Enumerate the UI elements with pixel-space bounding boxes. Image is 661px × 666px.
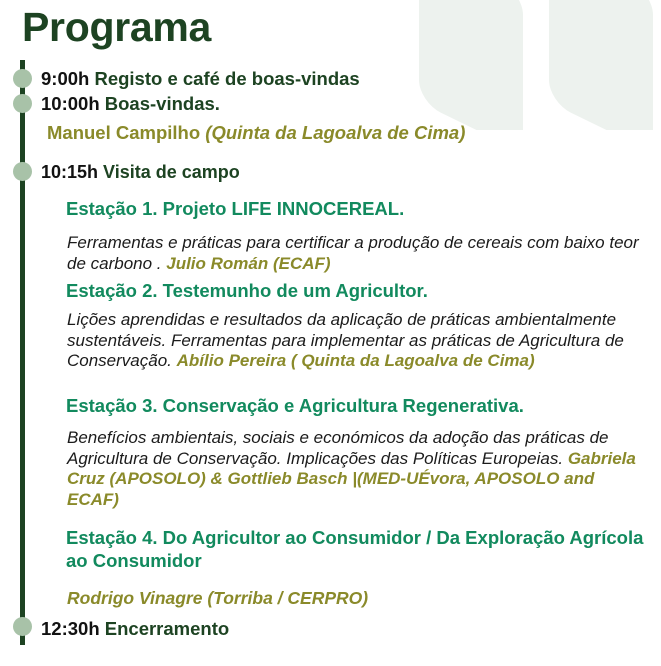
station-2-description: Lições aprendidas e resultados da aplica… [67, 310, 651, 372]
agenda-entry-closing: 12:30h Encerramento [41, 620, 229, 639]
station-3-heading: Estação 3. Conservação e Agricultura Reg… [66, 395, 646, 418]
station-2-presenter: Abílio Pereira ( Quinta da Lagoalva de C… [177, 351, 535, 370]
timeline-dot-marker [13, 69, 32, 88]
agenda-entry-label: Visita de campo [98, 162, 240, 182]
agenda-entry-label: Registo e café de boas-vindas [89, 68, 359, 89]
timeline-dot-marker [13, 617, 32, 636]
station-3-description-text: Benefícios ambientais, sociais e económi… [67, 428, 608, 468]
agenda-entry-time: 10:00h [41, 93, 100, 114]
station-1-heading: Estação 1. Projeto LIFE INNOCEREAL. [66, 198, 646, 221]
decorative-chevron-shape-left [419, 0, 523, 130]
agenda-entry-welcome: 10:00h Boas-vindas. [41, 95, 220, 114]
station-2-heading: Estação 2. Testemunho de um Agricultor. [66, 280, 646, 303]
agenda-entry-label: Encerramento [100, 618, 230, 639]
agenda-entry-time: 10:15h [41, 162, 98, 182]
page-title: Programa [22, 4, 211, 51]
station-1-presenter: Julio Román (ECAF) [166, 254, 330, 273]
station-3-description: Benefícios ambientais, sociais e económi… [67, 428, 651, 511]
timeline-rail [20, 60, 25, 645]
agenda-entry-field-visit: 10:15h Visita de campo [41, 163, 240, 181]
station-4-heading: Estação 4. Do Agricultor ao Consumidor /… [66, 527, 646, 572]
station-1-description-text: Ferramentas e práticas para certificar a… [67, 233, 639, 273]
timeline-dot-marker [13, 94, 32, 113]
welcome-speaker: Manuel Campilho (Quinta da Lagoalva de C… [47, 122, 465, 143]
agenda-entry-time: 9:00h [41, 68, 89, 89]
agenda-entry-registration: 9:00h Registo e café de boas-vindas [41, 70, 360, 89]
agenda-entry-time: 12:30h [41, 618, 100, 639]
station-1-description: Ferramentas e práticas para certificar a… [67, 233, 651, 274]
decorative-chevron-shape-right [549, 0, 653, 130]
welcome-speaker-name: Manuel Campilho [47, 122, 205, 143]
station-4-presenter: Rodrigo Vinagre (Torriba / CERPRO) [67, 588, 368, 608]
agenda-entry-label: Boas-vindas. [100, 93, 220, 114]
timeline-dot-marker [13, 162, 32, 181]
decorative-shapes-group [411, 0, 661, 130]
welcome-speaker-affiliation: (Quinta da Lagoalva de Cima) [205, 122, 465, 143]
